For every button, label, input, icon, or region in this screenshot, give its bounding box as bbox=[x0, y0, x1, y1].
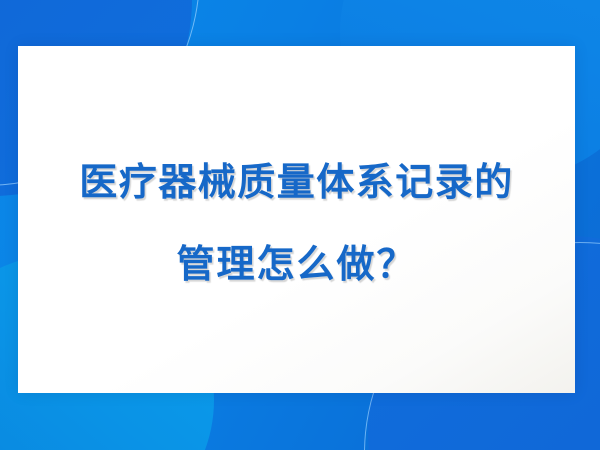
headline-line-2: 管理怎么做？ bbox=[28, 245, 565, 283]
content-card: 医疗器械质量体系记录的 管理怎么做？ bbox=[18, 46, 575, 393]
headline-line-1: 医疗器械质量体系记录的 bbox=[28, 163, 565, 201]
headline-block: 医疗器械质量体系记录的 管理怎么做？ bbox=[18, 163, 575, 283]
poster-canvas: 医疗器械质量体系记录的 管理怎么做？ bbox=[0, 0, 600, 450]
